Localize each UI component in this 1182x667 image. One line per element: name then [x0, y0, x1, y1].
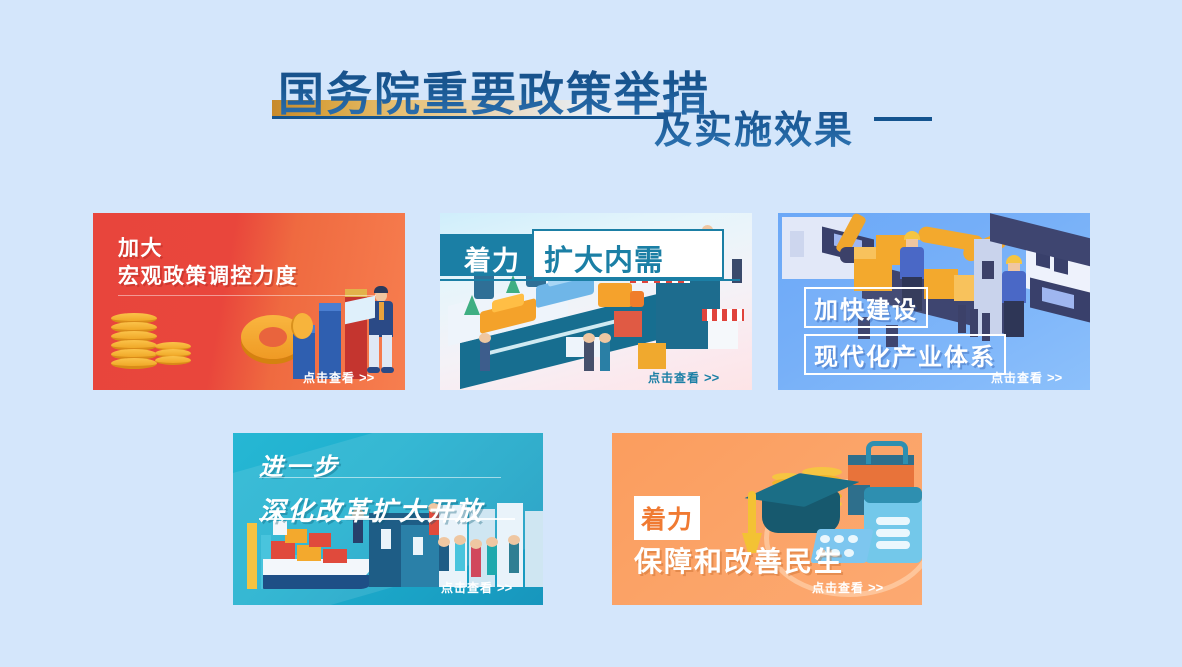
card4-title: 进一步 深化改革扩大开放: [259, 447, 483, 528]
bottle-label-line-2: [876, 529, 910, 537]
bar-chart-bar-2-top: [319, 303, 341, 311]
pedestrian-3-head: [599, 333, 611, 343]
container-orange-2: [285, 529, 307, 543]
card2-cta-label: 点击查看: [648, 371, 700, 385]
person-f-head: [486, 537, 498, 547]
person-c-body: [439, 545, 449, 571]
page-header: 国务院重要政策举措 及实施效果: [0, 0, 1182, 180]
container-red-2: [323, 549, 347, 563]
card1-title: 加大 宏观政策调控力度: [118, 235, 298, 291]
card3-cta-arrows: >>: [1047, 370, 1062, 385]
card1-cta-arrows: >>: [359, 370, 374, 385]
pedestrian-1: [480, 341, 490, 371]
card4-title-rule-1: [259, 477, 501, 478]
card3-cta[interactable]: 点击查看>>: [991, 369, 1062, 386]
pedestrian-2-head: [583, 333, 595, 343]
stall-awning-stripes: [702, 309, 744, 321]
page-subtitle: 及实施效果: [654, 99, 854, 154]
card2-cta-arrows: >>: [704, 370, 719, 385]
card1-title-line2: 宏观政策调控力度: [118, 263, 298, 291]
machine-left-vents: [790, 231, 804, 257]
office-panel-4: [525, 511, 543, 587]
stall-body: [708, 321, 738, 349]
card2-cta[interactable]: 点击查看>>: [648, 369, 719, 386]
pill-3: [848, 535, 858, 543]
card4-title-rule-2: [259, 518, 515, 520]
bottle-label-line-1: [876, 517, 910, 525]
pedestrian-2: [584, 341, 594, 371]
card5-cta-label: 点击查看: [812, 581, 864, 595]
card3-cta-label: 点击查看: [991, 371, 1043, 385]
medicine-bottle-cap: [864, 487, 922, 503]
person-leg-left: [369, 335, 379, 369]
container-orange-1: [297, 545, 321, 561]
parcel-box-orange: [638, 343, 666, 369]
person-d-body: [455, 543, 465, 571]
card1-cta[interactable]: 点击查看>>: [303, 369, 374, 386]
card3-title: 加快建设 现代化产业体系: [804, 287, 1006, 375]
pill-6: [844, 549, 854, 557]
ship-hull-lower: [263, 575, 375, 589]
person-c-head: [438, 537, 450, 547]
worker-2-legs: [1004, 301, 1024, 337]
person-leg-right: [382, 335, 392, 369]
grad-cap-tassel-cord: [748, 491, 756, 537]
bottle-label-line-3: [876, 541, 910, 549]
card3-title-line2: 现代化产业体系: [804, 334, 1006, 375]
card4-cta[interactable]: 点击查看>>: [441, 579, 512, 596]
delivery-truck-cab: [630, 291, 644, 307]
person-f-body: [487, 545, 497, 575]
page-root: 国务院重要政策举措 及实施效果: [0, 0, 1182, 667]
pedestrian-3: [600, 341, 610, 371]
card4-cta-arrows: >>: [497, 580, 512, 595]
card2-title-line2: 扩大内需: [544, 237, 664, 279]
card2-title-rule: [440, 279, 740, 281]
title-underline-short: [874, 117, 932, 121]
worker-1-torso: [900, 247, 924, 279]
person-e-head: [470, 539, 482, 549]
person-shoe-right: [381, 367, 394, 373]
card1-title-line1: 加大: [118, 235, 298, 263]
card-macro-policy[interactable]: 加大 宏观政策调控力度: [93, 213, 405, 390]
page-title: 国务院重要政策举措: [278, 58, 710, 124]
person-d-head: [454, 535, 466, 545]
floating-coin-icon: [291, 313, 313, 339]
office-window-2: [413, 537, 423, 555]
card5-cta-arrows: >>: [868, 580, 883, 595]
person-g-head: [508, 535, 520, 545]
office-window-1: [381, 529, 391, 549]
card4-cta-label: 点击查看: [441, 581, 493, 595]
card-industrial-system[interactable]: 加快建设 现代化产业体系: [778, 213, 1090, 390]
briefcase-handle: [866, 441, 908, 464]
pedestrian-1-head: [479, 333, 491, 343]
card5-cta[interactable]: 点击查看>>: [812, 579, 883, 596]
card-expand-demand[interactable]: 着力 扩大内需: [440, 213, 752, 390]
card1-cta-label: 点击查看: [303, 371, 355, 385]
card5-title-line2: 保障和改善民生: [634, 540, 844, 580]
parcel-box-red: [614, 311, 642, 337]
card3-title-line1: 加快建设: [804, 287, 928, 328]
container-red-1: [271, 541, 295, 559]
tree-1: [464, 295, 480, 315]
tall-machine-panel: [982, 261, 994, 279]
card5-title-badge: 着力: [634, 496, 700, 540]
card5-title-line1: 着力: [634, 496, 700, 540]
person-e-body: [471, 547, 481, 577]
person-g-body: [509, 543, 519, 573]
person-hair: [374, 286, 388, 293]
person-tie: [379, 302, 384, 320]
card1-title-rule: [118, 295, 376, 296]
delivery-truck: [598, 283, 632, 307]
chart-bar-gold: [247, 523, 257, 589]
container-red-3: [309, 533, 331, 547]
card4-title-line2: 深化改革扩大开放: [259, 491, 483, 528]
card2-title-line1: 着力: [464, 239, 520, 278]
